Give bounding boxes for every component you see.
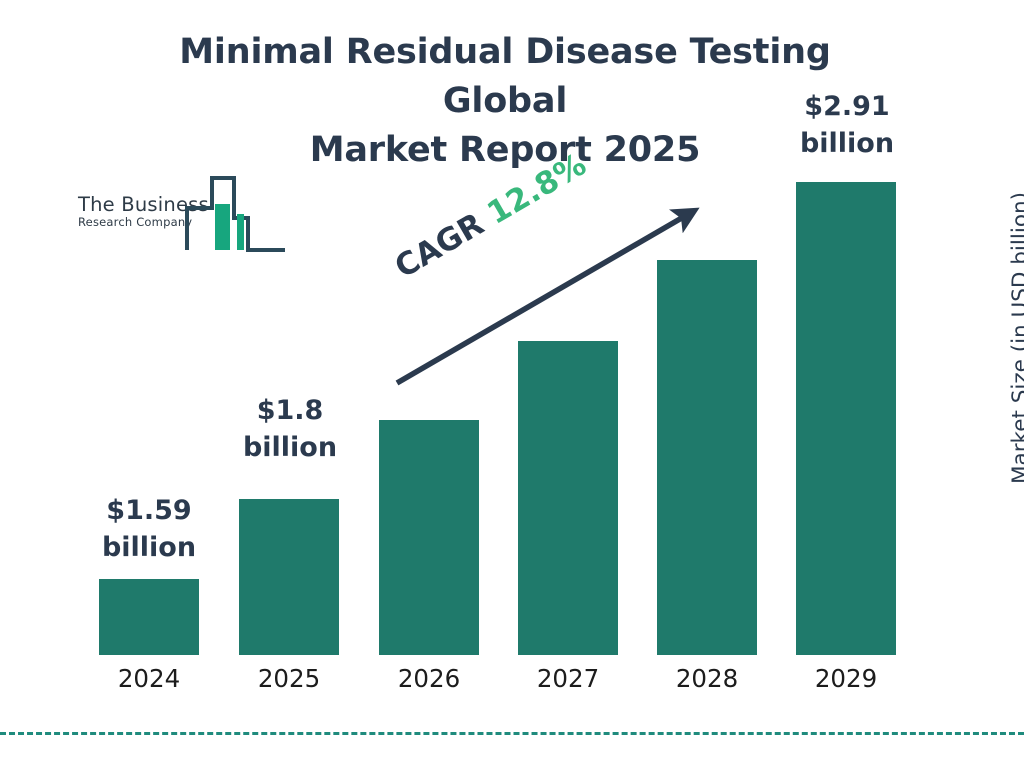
xtick-2025: 2025: [219, 664, 359, 694]
xtick-2024: 2024: [79, 664, 219, 694]
bar-2024: [99, 579, 199, 655]
company-logo: The Business Research Company: [76, 172, 288, 254]
page-title: Minimal Residual Disease Testing Global …: [112, 28, 898, 175]
y-axis-title: Market Size (in USD billion): [1008, 173, 1024, 503]
logo-bar-mark: [184, 172, 288, 252]
bar-2025: [239, 499, 339, 655]
value-label-2025: $1.8 billion: [222, 392, 358, 466]
chart-canvas: Minimal Residual Disease Testing Global …: [0, 0, 1024, 768]
value-label-2029: $2.91 billion: [782, 88, 912, 162]
footer-divider: [0, 732, 1024, 735]
bar-2029: [796, 182, 896, 655]
xtick-2029: 2029: [776, 664, 916, 694]
xtick-2027: 2027: [498, 664, 638, 694]
cagr-growth-arrow-icon: [380, 190, 720, 400]
value-label-2024: $1.59 billion: [86, 492, 212, 566]
xtick-2026: 2026: [359, 664, 499, 694]
bar-2026: [379, 420, 479, 655]
xtick-2028: 2028: [637, 664, 777, 694]
